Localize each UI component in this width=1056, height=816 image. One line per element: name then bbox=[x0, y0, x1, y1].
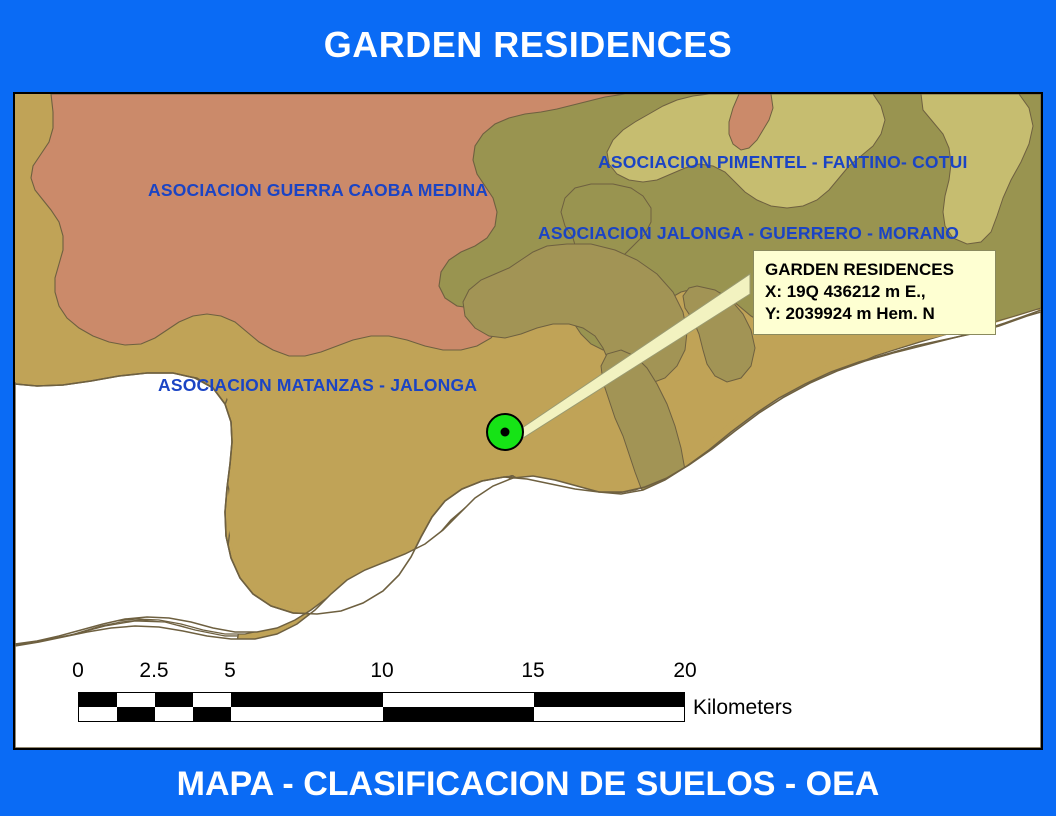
page-title: GARDEN RESIDENCES bbox=[324, 24, 733, 66]
scale-tick-labels: 0 2.5 5 10 15 20 bbox=[65, 659, 825, 685]
footer-banner: MAPA - CLASIFICACION DE SUELOS - OEA bbox=[0, 752, 1056, 816]
location-callout-box[interactable]: GARDEN RESIDENCES X: 19Q 436212 m E., Y:… bbox=[753, 250, 996, 335]
scale-bar-checkerboard bbox=[78, 692, 685, 722]
title-banner: GARDEN RESIDENCES bbox=[0, 0, 1056, 90]
scale-tick-0: 0 bbox=[72, 659, 84, 683]
location-marker[interactable] bbox=[487, 414, 523, 450]
scale-cell-bottom-3 bbox=[383, 707, 534, 721]
region-label-matanzas-jalonga: ASOCIACION MATANZAS - JALONGA bbox=[158, 375, 477, 396]
region-label-pimentel-fantino-cotui: ASOCIACION PIMENTEL - FANTINO- COTUI bbox=[598, 152, 968, 173]
scale-tick-15: 15 bbox=[521, 659, 544, 683]
callout-site-name: GARDEN RESIDENCES bbox=[765, 259, 985, 281]
callout-x-coordinate: X: 19Q 436212 m E., bbox=[765, 281, 985, 303]
scale-bar-group: 0 2.5 5 10 15 20 Kilometers bbox=[65, 659, 825, 729]
scale-cell-top-4 bbox=[534, 693, 684, 707]
map-frame: ASOCIACION GUERRA CAOBA MEDINA ASOCIACIO… bbox=[13, 92, 1043, 750]
scale-tick-5: 5 bbox=[224, 659, 236, 683]
footer-title: MAPA - CLASIFICACION DE SUELOS - OEA bbox=[177, 765, 880, 804]
scale-cell-bottom-1 bbox=[117, 707, 155, 721]
marker-center-dot bbox=[501, 428, 510, 437]
scale-tick-20: 20 bbox=[673, 659, 696, 683]
scale-cell-top-2 bbox=[155, 693, 193, 707]
scale-units-label: Kilometers bbox=[693, 696, 792, 720]
region-label-jalonga-guerrero-morano: ASOCIACION JALONGA - GUERRERO - MORANO bbox=[538, 223, 959, 244]
scale-cell-top-3 bbox=[231, 693, 383, 707]
scale-cell-top-1 bbox=[79, 693, 117, 707]
scale-cell-bottom-2 bbox=[193, 707, 231, 721]
scale-tick-2-5: 2.5 bbox=[139, 659, 168, 683]
callout-y-coordinate: Y: 2039924 m Hem. N bbox=[765, 303, 985, 325]
scale-tick-10: 10 bbox=[370, 659, 393, 683]
region-label-guerra-caoba-medina: ASOCIACION GUERRA CAOBA MEDINA bbox=[148, 180, 488, 201]
map-poster: GARDEN RESIDENCES bbox=[0, 0, 1056, 816]
